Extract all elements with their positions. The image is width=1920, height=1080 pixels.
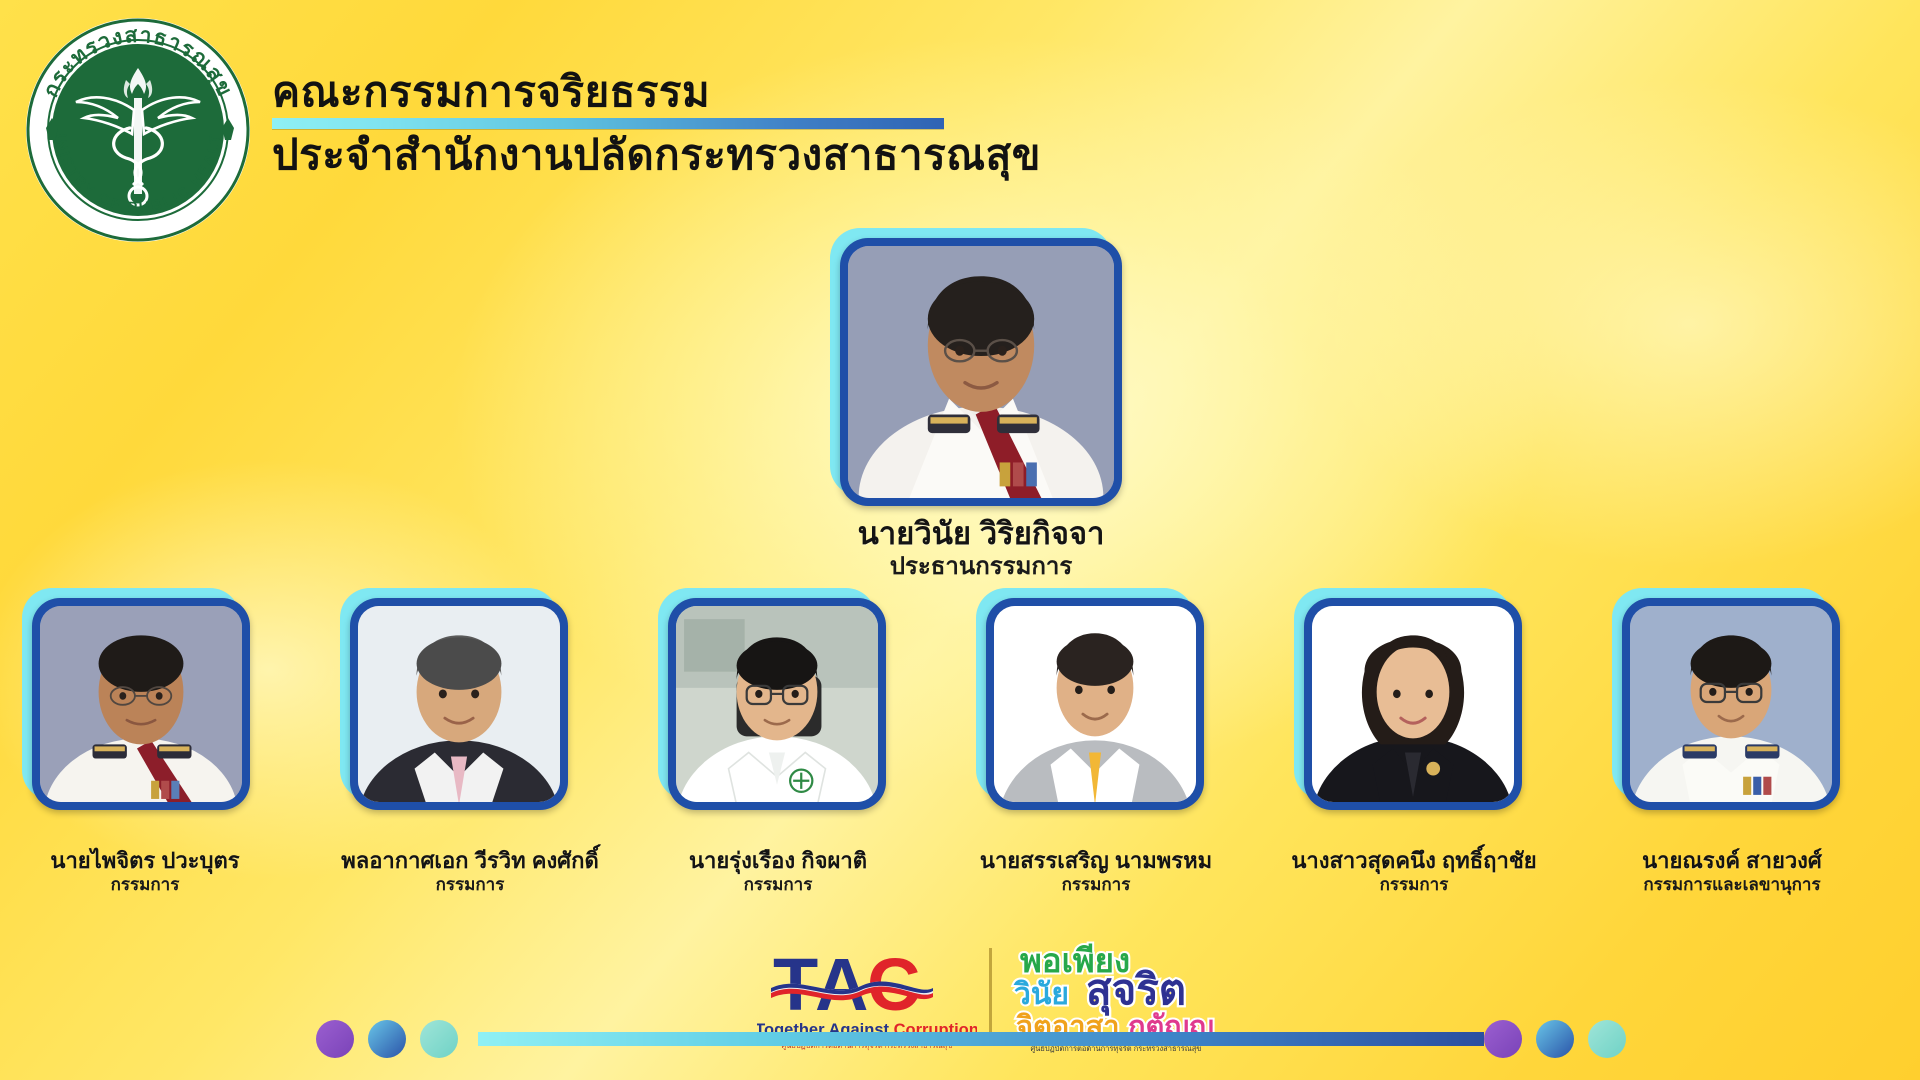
portrait-frame-member-1 — [32, 598, 250, 810]
caption-member-1: นายไพจิตร ปวะบุตร กรรมการ — [0, 848, 290, 896]
deco-dot-purple-right — [1484, 1020, 1522, 1058]
member-3-role: กรรมการ — [608, 875, 948, 895]
member-6-role: กรรมการและเลขานุการ — [1562, 875, 1902, 895]
ministry-seal-icon: กระทรวงสาธารณสุข MINISTRY OF PUBLIC HEAL… — [18, 10, 258, 250]
portrait-photo-member-1 — [40, 606, 242, 802]
portrait-photo-member-3 — [676, 606, 878, 802]
svg-text:สุจริต: สุจริต — [1086, 966, 1186, 1016]
person-photo-icon — [994, 606, 1196, 802]
member-1-role: กรรมการ — [0, 875, 290, 895]
bottom-decoration — [0, 1016, 1920, 1064]
portrait-photo-member-6 — [1630, 606, 1832, 802]
title-line-2: ประจำสำนักงานปลัดกระทรวงสาธารณสุข — [272, 131, 1272, 178]
member-6-name: นายณรงค์ สายวงศ์ — [1562, 848, 1902, 873]
deco-dot-purple-left — [316, 1020, 354, 1058]
ministry-logo: กระทรวงสาธารณสุข MINISTRY OF PUBLIC HEAL… — [18, 10, 258, 250]
portrait-frame-member-4 — [986, 598, 1204, 810]
caption-chairman: นายวินัย วิริยกิจจา ประธานกรรมการ — [800, 516, 1162, 581]
chairman-role: ประธานกรรมการ — [800, 553, 1162, 582]
caption-member-6: นายณรงค์ สายวงศ์ กรรมการและเลขานุการ — [1562, 848, 1902, 896]
member-4-role: กรรมการ — [926, 875, 1266, 895]
person-photo-icon — [358, 606, 560, 802]
chairman-name: นายวินัย วิริยกิจจา — [800, 516, 1162, 552]
portrait-photo-chairman — [848, 246, 1114, 498]
member-5-name: นางสาวสุดคนึง ฤทธิ์ฤาชัย — [1244, 848, 1584, 873]
caption-member-5: นางสาวสุดคนึง ฤทธิ์ฤาชัย กรรมการ — [1244, 848, 1584, 896]
portrait-frame-chairman — [840, 238, 1122, 506]
member-1-name: นายไพจิตร ปวะบุตร — [0, 848, 290, 873]
deco-dot-teal-left — [420, 1020, 458, 1058]
member-2-role: กรรมการ — [290, 875, 650, 895]
deco-dot-blue-right — [1536, 1020, 1574, 1058]
svg-text:วินัย: วินัย — [1013, 978, 1069, 1011]
caption-member-4: นายสรรเสริญ นามพรหม กรรมการ — [926, 848, 1266, 896]
person-photo-icon — [40, 606, 242, 802]
svg-text:A: A — [815, 943, 868, 1026]
person-photo-icon — [1312, 606, 1514, 802]
deco-dot-teal-right — [1588, 1020, 1626, 1058]
member-4-name: นายสรรเสริญ นามพรหม — [926, 848, 1266, 873]
portrait-photo-member-5 — [1312, 606, 1514, 802]
person-photo-icon — [1630, 606, 1832, 802]
caption-member-2: พลอากาศเอก วีรวิท คงศักดิ์ กรรมการ — [290, 848, 650, 896]
person-photo-icon — [676, 606, 878, 802]
person-photo-icon — [848, 246, 1114, 498]
page-title: คณะกรรมการจริยธรรม ประจำสำนักงานปลัดกระท… — [272, 68, 1272, 178]
deco-dot-blue-left — [368, 1020, 406, 1058]
portrait-photo-member-2 — [358, 606, 560, 802]
portrait-frame-member-6 — [1622, 598, 1840, 810]
deco-bar — [478, 1032, 1484, 1046]
portrait-photo-member-4 — [994, 606, 1196, 802]
portrait-frame-member-3 — [668, 598, 886, 810]
title-underline-bar — [272, 118, 944, 129]
poster-canvas: กระทรวงสาธารณสุข MINISTRY OF PUBLIC HEAL… — [0, 0, 1920, 1080]
caption-member-3: นายรุ่งเรือง กิจผาติ กรรมการ — [608, 848, 948, 896]
member-5-role: กรรมการ — [1244, 875, 1584, 895]
title-line-1: คณะกรรมการจริยธรรม — [272, 68, 1272, 115]
member-2-name: พลอากาศเอก วีรวิท คงศักดิ์ — [290, 848, 650, 873]
member-3-name: นายรุ่งเรือง กิจผาติ — [608, 848, 948, 873]
portrait-frame-member-5 — [1304, 598, 1522, 810]
portrait-frame-member-2 — [350, 598, 568, 810]
